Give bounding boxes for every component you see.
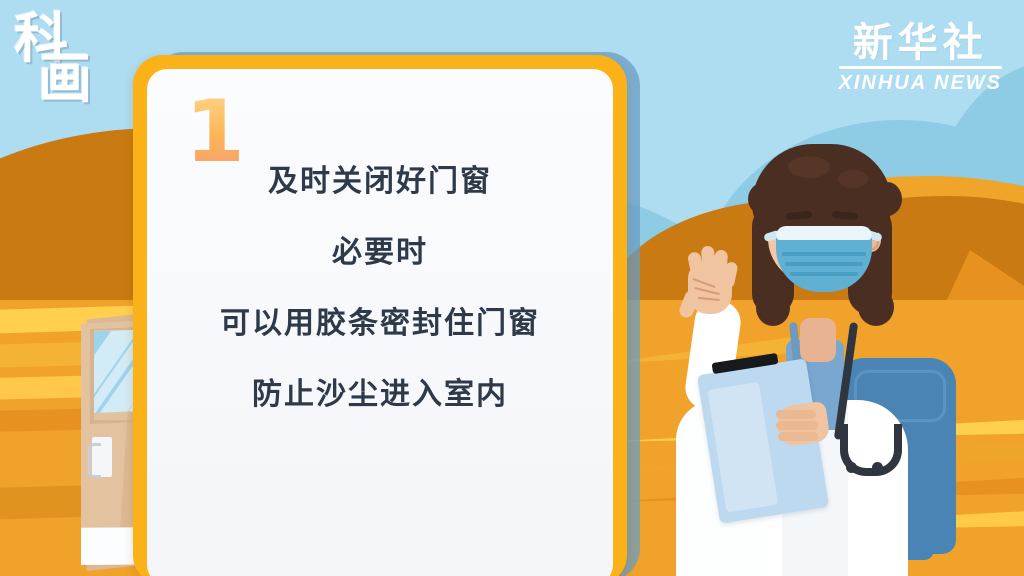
- hold-finger-2: [776, 421, 818, 430]
- clipboard-sheen: [707, 382, 778, 513]
- board-text-line-2: 必要时: [173, 238, 587, 268]
- hair-highlight-2: [838, 170, 868, 188]
- xinhua-news-logo: 新华社 XINHUA NEWS: [839, 22, 1002, 95]
- step-number: 1: [185, 89, 245, 175]
- stethoscope-earpiece-left: [846, 462, 857, 473]
- board-text-line-4: 防止沙尘进入室内: [173, 380, 587, 410]
- xinhua-logo-rule: [839, 66, 1002, 69]
- hair-curl-2: [756, 290, 790, 326]
- doctor-neck: [800, 318, 836, 362]
- xinhua-logo-en: XINHUA NEWS: [839, 72, 1002, 95]
- mask-top-edge: [776, 226, 872, 240]
- message-board-surface: 1 及时关闭好门窗 必要时 可以用胶条密封住门窗 防止沙尘进入室内: [147, 69, 613, 576]
- board-text-line-1: 及时关闭好门窗: [173, 167, 587, 197]
- keh-hua-logo-char-2: 画: [38, 56, 124, 102]
- board-text-line-3: 可以用胶条密封住门窗: [173, 309, 587, 339]
- hair-curl-1: [748, 182, 782, 216]
- keh-hua-logo: 科 画: [14, 16, 124, 110]
- hair-curl-3: [858, 288, 894, 326]
- door-handle[interactable]: [88, 443, 101, 478]
- board-text-block: 及时关闭好门窗 必要时 可以用胶条密封住门窗 防止沙尘进入室内: [173, 167, 587, 451]
- infographic-canvas: 1 及时关闭好门窗 必要时 可以用胶条密封住门窗 防止沙尘进入室内 科 画 新华…: [0, 0, 1024, 576]
- hair-highlight-1: [788, 156, 830, 178]
- xinhua-logo-cn: 新华社: [839, 22, 1002, 64]
- message-board: 1 及时关闭好门窗 必要时 可以用胶条密封住门窗 防止沙尘进入室内: [133, 55, 627, 576]
- hold-finger-1: [776, 410, 816, 419]
- hair-curl-4: [872, 182, 902, 216]
- hold-finger-3: [778, 432, 818, 441]
- stethoscope-earpiece-right: [872, 462, 883, 473]
